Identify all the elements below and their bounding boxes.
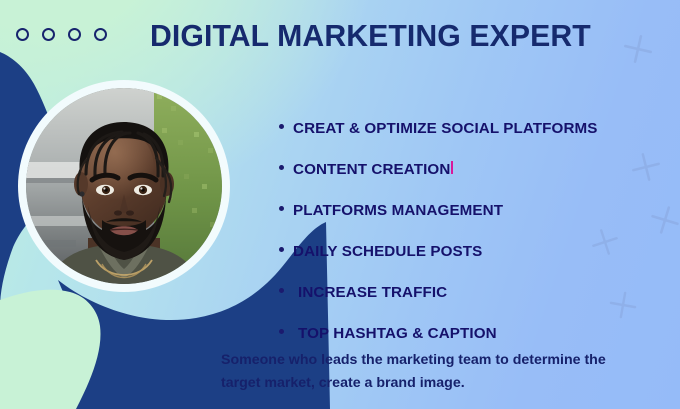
list-item-label: TOP HASHTAG & CAPTION (293, 325, 497, 342)
ring-decor-icon (16, 28, 29, 41)
service-list: CREAT & OPTIMIZE SOCIAL PLATFORMS CONTEN… (279, 120, 675, 366)
description-line-2: target market, create a brand image. (221, 372, 673, 395)
list-item-label: DAILY SCHEDULE POSTS (293, 243, 482, 260)
description-text: Someone who leads the marketing team to … (221, 349, 673, 395)
cross-decor-icon (621, 32, 655, 66)
list-item-label: INCREASE TRAFFIC (293, 284, 447, 301)
bullet-dot-icon (279, 124, 284, 129)
portrait-illustration (26, 88, 222, 284)
ring-decor-icon (68, 28, 81, 41)
ring-decor-icon (42, 28, 55, 41)
bullet-dot-icon (279, 165, 284, 170)
marketing-expert-banner: DIGITAL MARKETING EXPERT CREAT & OPTIMIZ… (0, 0, 680, 409)
list-item[interactable]: CREAT & OPTIMIZE SOCIAL PLATFORMS (279, 120, 675, 161)
list-item[interactable]: CONTENT CREATION (279, 161, 675, 202)
avatar (22, 84, 226, 288)
text-caret-icon (451, 161, 453, 174)
list-item-label: PLATFORMS MANAGEMENT (293, 202, 503, 219)
bullet-dot-icon (279, 206, 284, 211)
ring-decor-icon (94, 28, 107, 41)
list-item-label: CONTENT CREATION (293, 161, 450, 178)
list-item[interactable]: PLATFORMS MANAGEMENT (279, 202, 675, 243)
bullet-dot-icon (279, 247, 284, 252)
list-item[interactable]: DAILY SCHEDULE POSTS (279, 243, 675, 284)
page-title: DIGITAL MARKETING EXPERT (150, 19, 586, 54)
bullet-dot-icon (279, 329, 284, 334)
bullet-dot-icon (279, 288, 284, 293)
description-line-1: Someone who leads the marketing team to … (221, 352, 606, 368)
ring-decor-group (16, 28, 107, 41)
avatar-photo (26, 88, 222, 284)
list-item[interactable]: INCREASE TRAFFIC (279, 284, 675, 325)
list-item-label: CREAT & OPTIMIZE SOCIAL PLATFORMS (293, 120, 598, 137)
